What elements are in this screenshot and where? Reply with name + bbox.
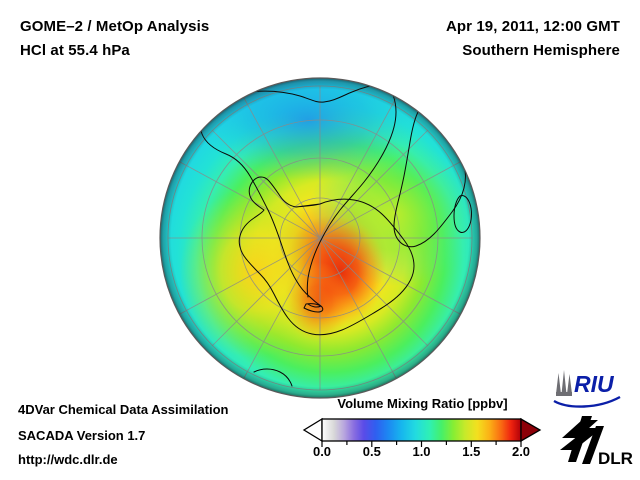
page-title: GOME–2 / MetOp Analysis <box>20 18 209 35</box>
colorbar-tick-0: 0.0 <box>313 444 331 459</box>
logos-svg: RIU DLR <box>552 368 638 474</box>
version-label: SACADA Version 1.7 <box>18 428 145 443</box>
colorbar-tick-2: 1.0 <box>412 444 430 459</box>
url-label[interactable]: http://wdc.dlr.de <box>18 452 118 467</box>
colorbar-gradient <box>322 419 521 441</box>
species-subtitle: HCl at 55.4 hPa <box>20 42 130 59</box>
hemisphere-label: Southern Hemisphere <box>462 42 620 59</box>
limb-shading <box>160 78 480 398</box>
riu-swoosh-icon <box>554 397 620 407</box>
riu-logo: RIU <box>554 370 620 407</box>
colorbar-high-cap <box>521 419 540 441</box>
riu-wordmark: RIU <box>574 371 615 397</box>
colorbar-tick-1: 0.5 <box>363 444 381 459</box>
colorbar-title: Volume Mixing Ratio [ppbv] <box>300 396 545 411</box>
logo-group: RIU DLR <box>552 368 638 474</box>
polar-projection-map <box>158 76 482 400</box>
colorbar: Volume Mixing Ratio [ppbv] <box>300 396 545 476</box>
timestamp-label: Apr 19, 2011, 12:00 GMT <box>446 18 620 35</box>
colorbar-tick-4: 2.0 <box>512 444 530 459</box>
colorbar-low-cap <box>304 419 322 441</box>
colorbar-tick-labels: 0.0 0.5 1.0 1.5 2.0 <box>300 444 545 464</box>
riu-towers-icon <box>556 370 572 396</box>
globe-svg <box>158 76 482 400</box>
dlr-logo: DLR <box>560 416 633 468</box>
figure-canvas: GOME–2 / MetOp Analysis HCl at 55.4 hPa … <box>0 0 640 480</box>
dlr-wordmark: DLR <box>598 449 633 468</box>
method-label: 4DVar Chemical Data Assimilation <box>18 402 229 417</box>
colorbar-tick-3: 1.5 <box>462 444 480 459</box>
